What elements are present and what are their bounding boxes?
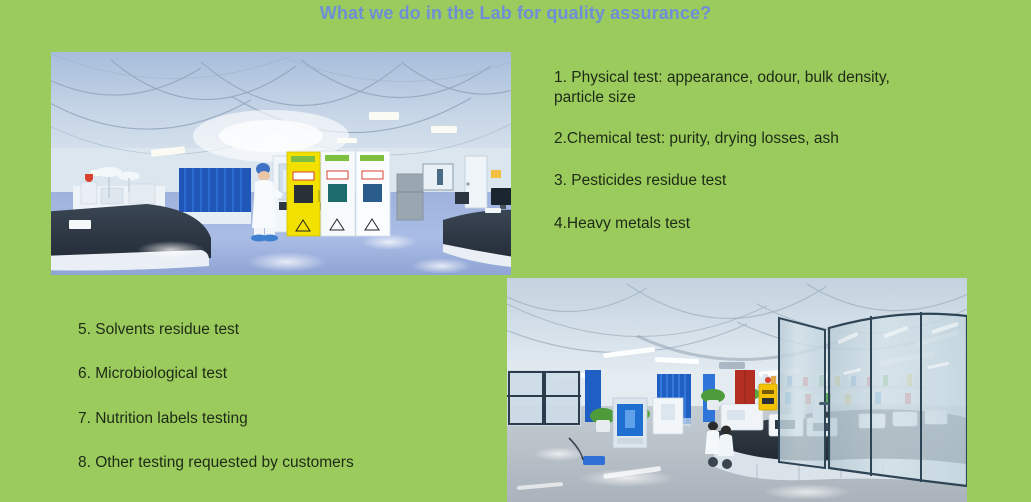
list-item: 3. Pesticides residue test [554,171,934,191]
list-item: 1. Physical test: appearance, odour, bul… [554,68,934,109]
list-item: 4.Heavy metals test [554,214,934,234]
list-item: 5. Solvents residue test [78,320,478,340]
page-title: What we do in the Lab for quality assura… [0,3,1031,24]
laboratory-panorama-instrument-room-image [507,278,967,502]
list-item: 8. Other testing requested by customers [78,453,478,473]
laboratory-panorama-analytical-room-image [51,52,511,275]
quality-tests-list-right: 1. Physical test: appearance, odour, bul… [554,68,934,256]
list-item: 6. Microbiological test [78,364,478,384]
list-item: 2.Chemical test: purity, drying losses, … [554,129,934,149]
quality-tests-list-bottom-left: 5. Solvents residue test 6. Microbiologi… [78,320,478,498]
lab-photo-top-left-graphic [51,52,511,275]
lab-photo-bottom-right-graphic [507,278,967,502]
list-item: 7. Nutrition labels testing [78,409,478,429]
slide-canvas: What we do in the Lab for quality assura… [0,0,1031,502]
